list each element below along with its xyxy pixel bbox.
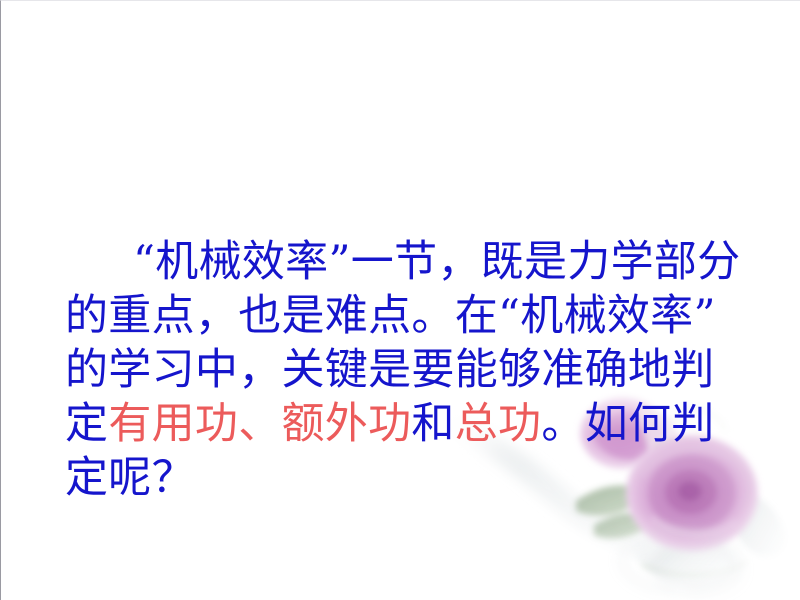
presentation-slide: “机械效率”一节，既是力学部分的重点，也是难点。在“机械效率”的学习中，关键是要… [0,0,800,600]
text-segment-conjunction: 和 [411,399,454,449]
slide-body-text: “机械效率”一节，既是力学部分的重点，也是难点。在“机械效率”的学习中，关键是要… [65,127,741,600]
text-segment-useful-and-extra-work: 有用功、额外功 [108,399,411,449]
text-segment-total-work: 总功 [455,399,542,449]
paragraph: “机械效率”一节，既是力学部分的重点，也是难点。在“机械效率”的学习中，关键是要… [65,235,741,505]
